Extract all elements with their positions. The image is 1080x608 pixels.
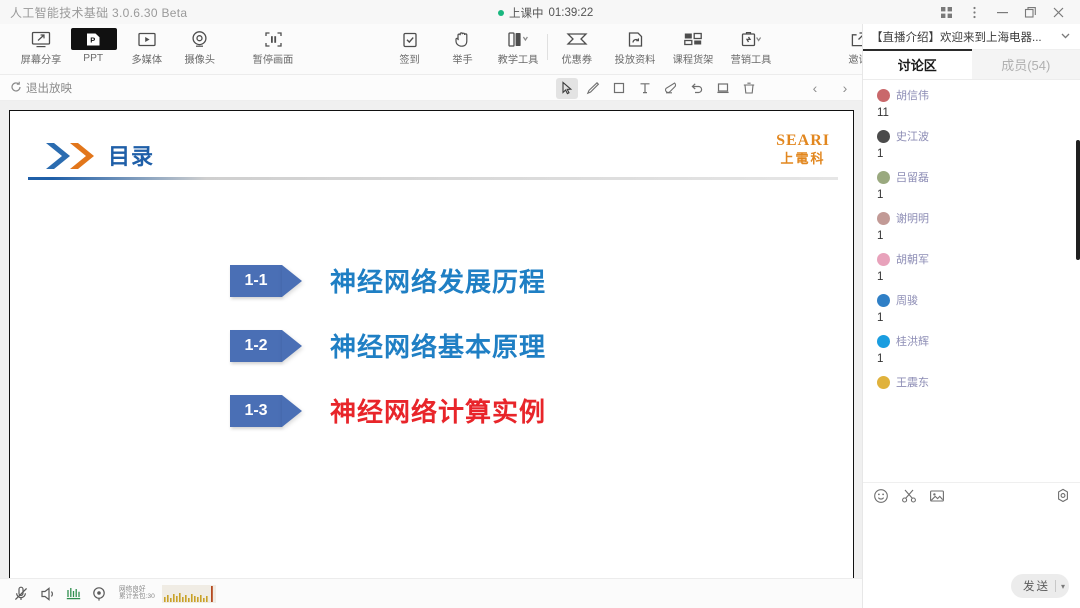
toolbar-label: 教学工具 — [498, 52, 539, 67]
media-icon — [134, 28, 160, 50]
slide-stage: 目录 SEARI 上電科 1-1 神经网络发展历程 1-2 — [0, 101, 862, 608]
toolbar-label: 多媒体 — [131, 52, 162, 67]
list-item: 吕留磊 1 — [877, 169, 1080, 201]
chevron-decoration — [44, 142, 106, 170]
message-body: 1 — [877, 230, 1080, 242]
image-icon[interactable] — [929, 488, 945, 504]
cursor-tool[interactable] — [556, 78, 578, 99]
toc-text: 神经网络发展历程 — [330, 262, 546, 299]
slide-canvas[interactable]: 目录 SEARI 上電科 1-1 神经网络发展历程 1-2 — [9, 110, 854, 608]
toolbar-label: 优惠券 — [562, 52, 593, 67]
toc-number: 1-2 — [244, 337, 267, 355]
exit-presentation-button[interactable]: 退出放映 — [10, 80, 72, 96]
toolbar-item-teaching-tools[interactable]: 教学工具 — [489, 24, 547, 75]
slide-toc-list: 1-1 神经网络发展历程 1-2 神经网络基本原理 1-3 神经网络计算实例 — [230, 248, 790, 443]
list-item: 桂洪辉 1 — [877, 333, 1080, 365]
toolbar-label: PPT — [84, 52, 104, 64]
toolbar-label: 投放资料 — [615, 52, 656, 67]
prev-slide-button[interactable]: ‹ — [806, 77, 824, 98]
list-item[interactable]: 1-3 神经网络计算实例 — [230, 378, 790, 443]
pause-frame-icon — [260, 28, 286, 50]
toolbar-item-raise-hand[interactable]: 举手 — [436, 24, 489, 75]
tab-discussion[interactable]: 讨论区 — [863, 50, 972, 79]
message-sender: 周骏 — [896, 292, 918, 308]
toolbar-item-screen-share[interactable]: 屏幕分享 — [14, 24, 67, 75]
message-sender: 谢明明 — [896, 210, 929, 226]
undo-tool[interactable] — [686, 78, 708, 99]
toc-badge: 1-2 — [230, 330, 282, 362]
slide-title: 目录 — [108, 139, 154, 171]
teaching-tools-icon — [505, 28, 531, 50]
toolbar-label: 摄像头 — [184, 52, 215, 67]
title-bar: 人工智能技术基础 3.0.6.30 Beta 上课中 01:39:22 — [0, 0, 1080, 24]
list-item: 周骏 1 — [877, 292, 1080, 324]
list-item: 王震东 — [877, 374, 1080, 390]
class-status-label: 上课中 — [509, 5, 544, 21]
toolbar-item-camera[interactable]: 摄像头 — [173, 24, 226, 75]
logo-en-text: SEARI — [776, 133, 830, 149]
send-options-caret[interactable]: ▾ — [1061, 582, 1065, 591]
message-header: 王震东 — [877, 374, 1080, 390]
toolbar-item-checkin[interactable]: 签到 — [383, 24, 436, 75]
send-button-label: 发送 — [1023, 578, 1050, 594]
scissors-icon[interactable] — [901, 488, 917, 504]
company-logo: SEARI 上電科 — [776, 133, 830, 165]
course-shelf-icon — [680, 28, 706, 50]
mic-muted-icon[interactable] — [8, 579, 34, 608]
toc-badge: 1-1 — [230, 265, 282, 297]
slide-header: 目录 SEARI 上電科 — [28, 133, 838, 185]
toolbar-label: 营销工具 — [731, 52, 772, 67]
message-header: 谢明明 — [877, 210, 1080, 226]
settings-gear-icon[interactable] — [1055, 488, 1071, 504]
toc-text: 神经网络基本原理 — [330, 327, 546, 364]
window-controls — [932, 0, 1072, 24]
list-item[interactable]: 1-2 神经网络基本原理 — [230, 313, 790, 378]
send-divider — [1055, 580, 1056, 592]
message-sender: 胡朝军 — [896, 251, 929, 267]
message-body: 1 — [877, 353, 1080, 365]
message-header: 史江波 — [877, 128, 1080, 144]
audio-waveform-graph — [162, 585, 216, 603]
toolbar-item-push-material[interactable]: 投放资料 — [606, 24, 664, 75]
close-icon[interactable] — [1044, 0, 1072, 24]
location-icon[interactable] — [86, 579, 112, 608]
grid-view-icon[interactable] — [932, 0, 960, 24]
room-title: 【直播介绍】欢迎来到上海电器... — [871, 29, 1059, 45]
panel-tabs: 讨论区 成员(54) — [863, 50, 1080, 80]
toolbar-label: 举手 — [452, 52, 472, 67]
text-tool[interactable] — [634, 78, 656, 99]
logo-cn-text: 上電科 — [776, 152, 830, 165]
emoji-icon[interactable] — [873, 488, 889, 504]
more-options-icon[interactable] — [960, 0, 988, 24]
message-body: 1 — [877, 189, 1080, 201]
toolbar-item-ppt[interactable]: P PPT — [67, 24, 120, 75]
toolbar-item-coupon[interactable]: 优惠券 — [548, 24, 606, 75]
live-status-dot — [498, 10, 504, 16]
avatar — [877, 130, 890, 143]
screen-share-icon — [28, 28, 54, 50]
list-item: 胡信伟 11 — [877, 87, 1080, 119]
message-sender: 王震东 — [896, 374, 929, 390]
message-header: 吕留磊 — [877, 169, 1080, 185]
app-title: 人工智能技术基础 3.0.6.30 Beta — [10, 4, 187, 21]
toolbar-item-marketing-tools[interactable]: 营销工具 — [722, 24, 780, 75]
status-bottom-bar: 网络良好 累计丢包:30 — [0, 578, 862, 608]
list-item[interactable]: 1-1 神经网络发展历程 — [230, 248, 790, 313]
push-material-icon — [622, 28, 648, 50]
coupon-icon — [564, 28, 590, 50]
minimize-icon[interactable] — [988, 0, 1016, 24]
right-side-panel: 【直播介绍】欢迎来到上海电器... 讨论区 成员(54) 胡信伟 11 史江波 — [862, 24, 1080, 608]
message-sender: 胡信伟 — [896, 87, 929, 103]
checkin-icon — [397, 28, 423, 50]
avatar — [877, 89, 890, 102]
message-body: 1 — [877, 271, 1080, 283]
message-body: 1 — [877, 312, 1080, 324]
chevron-down-icon[interactable] — [1059, 29, 1072, 45]
chat-scrollbar[interactable] — [1076, 140, 1080, 260]
list-item: 胡朝军 1 — [877, 251, 1080, 283]
network-status: 网络良好 累计丢包:30 — [119, 587, 155, 601]
avatar — [877, 171, 890, 184]
exit-presentation-label: 退出放映 — [26, 80, 72, 96]
delete-tool[interactable] — [738, 78, 760, 99]
header-underline — [28, 177, 838, 180]
avatar — [877, 376, 890, 389]
slide-navigation: ‹ › — [806, 77, 854, 98]
pen-tool[interactable] — [582, 78, 604, 99]
avatar — [877, 335, 890, 348]
message-sender: 吕留磊 — [896, 169, 929, 185]
toc-number: 1-3 — [244, 402, 267, 420]
raise-hand-icon — [450, 28, 476, 50]
refresh-exit-icon — [10, 81, 22, 96]
toolbar-label: 暂停画面 — [253, 52, 294, 67]
avatar — [877, 212, 890, 225]
svg-text:P: P — [90, 35, 95, 44]
message-header: 胡朝军 — [877, 251, 1080, 267]
message-header: 周骏 — [877, 292, 1080, 308]
toolbar-item-course-shelf[interactable]: 课程货架 — [664, 24, 722, 75]
toolbar-label: 签到 — [399, 52, 419, 67]
room-title-bar[interactable]: 【直播介绍】欢迎来到上海电器... — [863, 24, 1080, 50]
message-header: 桂洪辉 — [877, 333, 1080, 349]
message-header: 胡信伟 — [877, 87, 1080, 103]
message-body: 1 — [877, 148, 1080, 160]
laser-screen-tool[interactable] — [712, 78, 734, 99]
message-sender: 桂洪辉 — [896, 333, 929, 349]
presentation-subbar: 退出放映 — [0, 75, 862, 101]
annotation-toolbar — [556, 77, 760, 99]
toc-badge: 1-3 — [230, 395, 282, 427]
eraser-tool[interactable] — [660, 78, 682, 99]
send-button[interactable]: 发送 ▾ — [1011, 574, 1069, 598]
ppt-icon: P — [71, 28, 117, 50]
list-item: 谢明明 1 — [877, 210, 1080, 242]
next-slide-button[interactable]: › — [836, 77, 854, 98]
toolbar-label: 课程货架 — [673, 52, 714, 67]
message-input[interactable] — [871, 513, 1073, 571]
message-body: 11 — [877, 107, 1080, 119]
toolbar-item-multimedia[interactable]: 多媒体 — [120, 24, 173, 75]
toolbar-center-group: 签到 举手 教学工具 优惠券 — [383, 24, 780, 75]
toolbar-item-pause-frame[interactable]: 暂停画面 — [244, 24, 302, 75]
list-item: 史江波 1 — [877, 128, 1080, 160]
maximize-icon[interactable] — [1016, 0, 1044, 24]
toolbar-left-group: 屏幕分享 P PPT 多媒体 摄像头 — [14, 24, 302, 75]
camera-icon — [187, 28, 213, 50]
network-packet-loss: 累计丢包:30 — [119, 594, 155, 601]
marketing-tools-icon — [738, 28, 764, 50]
chat-message-list[interactable]: 胡信伟 11 史江波 1 吕留磊 1 — [863, 81, 1080, 506]
toc-text: 神经网络计算实例 — [330, 392, 546, 429]
rectangle-tool[interactable] — [608, 78, 630, 99]
live-class-window: 人工智能技术基础 3.0.6.30 Beta 上课中 01:39:22 — [0, 0, 1080, 608]
composer-toolbar — [863, 483, 1080, 509]
toolbar-label: 屏幕分享 — [20, 52, 61, 67]
audio-levels-icon[interactable] — [60, 579, 86, 608]
tab-members[interactable]: 成员(54) — [972, 50, 1080, 79]
toc-number: 1-1 — [244, 272, 267, 290]
class-status: 上课中 01:39:22 — [498, 5, 593, 21]
class-elapsed-time: 01:39:22 — [549, 7, 594, 19]
speaker-icon[interactable] — [34, 579, 60, 608]
avatar — [877, 253, 890, 266]
message-composer: 发送 ▾ — [863, 482, 1080, 608]
message-sender: 史江波 — [896, 128, 929, 144]
avatar — [877, 294, 890, 307]
